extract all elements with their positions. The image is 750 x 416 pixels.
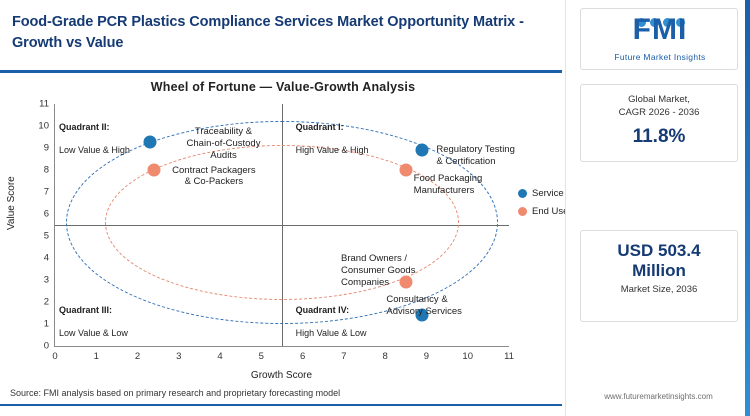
quadrant-label-3-subtitle: Low Value & Low (59, 328, 128, 338)
y-tick: 1 (44, 319, 49, 330)
data-point[interactable] (416, 144, 429, 157)
x-tick: 5 (259, 351, 264, 362)
logo-box: FMI Future Market Insights (580, 8, 738, 70)
cagr-card-caption: Global Market, CAGR 2026 - 2036 (581, 85, 737, 122)
quadrant-label-1-subtitle: High Value & High (296, 145, 369, 155)
y-tick: 4 (44, 253, 49, 264)
page-title: Food-Grade PCR Plastics Compliance Servi… (12, 12, 552, 54)
quadrant-label-2: Quadrant II: Low Value & High (59, 110, 130, 157)
bottom-divider (0, 404, 562, 406)
chart-title: Wheel of Fortune — Value-Growth Analysis (8, 80, 558, 94)
x-tick: 0 (52, 351, 57, 362)
quadrant-label-1: Quadrant I: High Value & High (296, 110, 369, 157)
market-size-card-sub: Market Size, 2036 (581, 282, 737, 305)
data-point[interactable] (399, 164, 412, 177)
quadrant-label-3: Quadrant III: Low Value & Low (59, 293, 128, 340)
x-tick: 6 (300, 351, 305, 362)
point-label-food-packaging: Food Packaging Manufacturers (414, 173, 534, 197)
y-tick: 8 (44, 164, 49, 175)
point-label-brand-owners: Brand Owners / Consumer Goods Companies (341, 253, 451, 289)
quadrant-label-3-title: Quadrant III: (59, 305, 112, 315)
x-tick: 3 (176, 351, 181, 362)
y-tick: 0 (44, 341, 49, 352)
x-axis-label: Growth Score (54, 370, 509, 381)
point-label-regulatory-testing: Regulatory Testing & Certification (436, 144, 556, 168)
quadrant-label-4-subtitle: High Value & Low (296, 328, 367, 338)
x-tick: 7 (341, 351, 346, 362)
chart-container: Wheel of Fortune — Value-Growth Analysis… (8, 78, 558, 383)
quadrant-label-2-title: Quadrant II: (59, 122, 110, 132)
y-tick: 9 (44, 142, 49, 153)
market-size-card-value: USD 503.4 Million (581, 231, 737, 282)
legend-color-swatch-end-user (518, 207, 527, 216)
y-axis-label: Value Score (6, 176, 17, 230)
cagr-card-value: 11.8% (581, 122, 737, 157)
x-tick: 11 (504, 351, 514, 362)
y-tick: 2 (44, 297, 49, 308)
x-tick: 9 (424, 351, 429, 362)
cagr-card: Global Market, CAGR 2026 - 2036 11.8% (580, 84, 738, 162)
quadrant-label-2-subtitle: Low Value & High (59, 145, 130, 155)
point-label-traceability: Traceability & Chain-of-Custody Audits (169, 126, 279, 162)
x-tick: 4 (217, 351, 222, 362)
quadrant-label-4-title: Quadrant IV: (296, 305, 350, 315)
x-tick: 1 (94, 351, 99, 362)
legend-color-swatch-service-type (518, 189, 527, 198)
x-tick: 2 (135, 351, 140, 362)
left-panel: Food-Grade PCR Plastics Compliance Servi… (0, 0, 565, 416)
y-tick: 6 (44, 208, 49, 219)
website-url: www.futuremarketinsights.com (566, 392, 750, 401)
y-tick: 5 (44, 231, 49, 242)
quadrant-label-4: Quadrant IV: High Value & Low (296, 293, 367, 340)
right-panel: FMI Future Market Insights Global Market… (565, 0, 750, 416)
y-tick: 7 (44, 186, 49, 197)
x-tick: 10 (462, 351, 473, 362)
point-label-contract-packagers: Contract Packagers & Co-Packers (155, 165, 273, 189)
logo-text: FMI (581, 13, 739, 47)
title-divider (0, 70, 562, 73)
data-point[interactable] (143, 135, 156, 148)
plot-area: 0 1 2 3 4 5 6 7 8 9 10 11 0 1 2 3 4 5 6 (54, 104, 509, 347)
y-tick: 11 (39, 99, 49, 110)
y-tick: 3 (44, 275, 49, 286)
x-tick: 8 (383, 351, 388, 362)
y-tick: 10 (38, 120, 49, 131)
accent-strip (745, 0, 750, 416)
quadrant-label-1-title: Quadrant I: (296, 122, 344, 132)
screenshot-root: Food-Grade PCR Plastics Compliance Servi… (0, 0, 750, 416)
source-note: Source: FMI analysis based on primary re… (10, 388, 340, 398)
market-size-card: USD 503.4 Million Market Size, 2036 (580, 230, 738, 322)
logo-tagline: Future Market Insights (581, 52, 739, 62)
point-label-consultancy: Consultancy & Advisory Services (386, 294, 496, 318)
